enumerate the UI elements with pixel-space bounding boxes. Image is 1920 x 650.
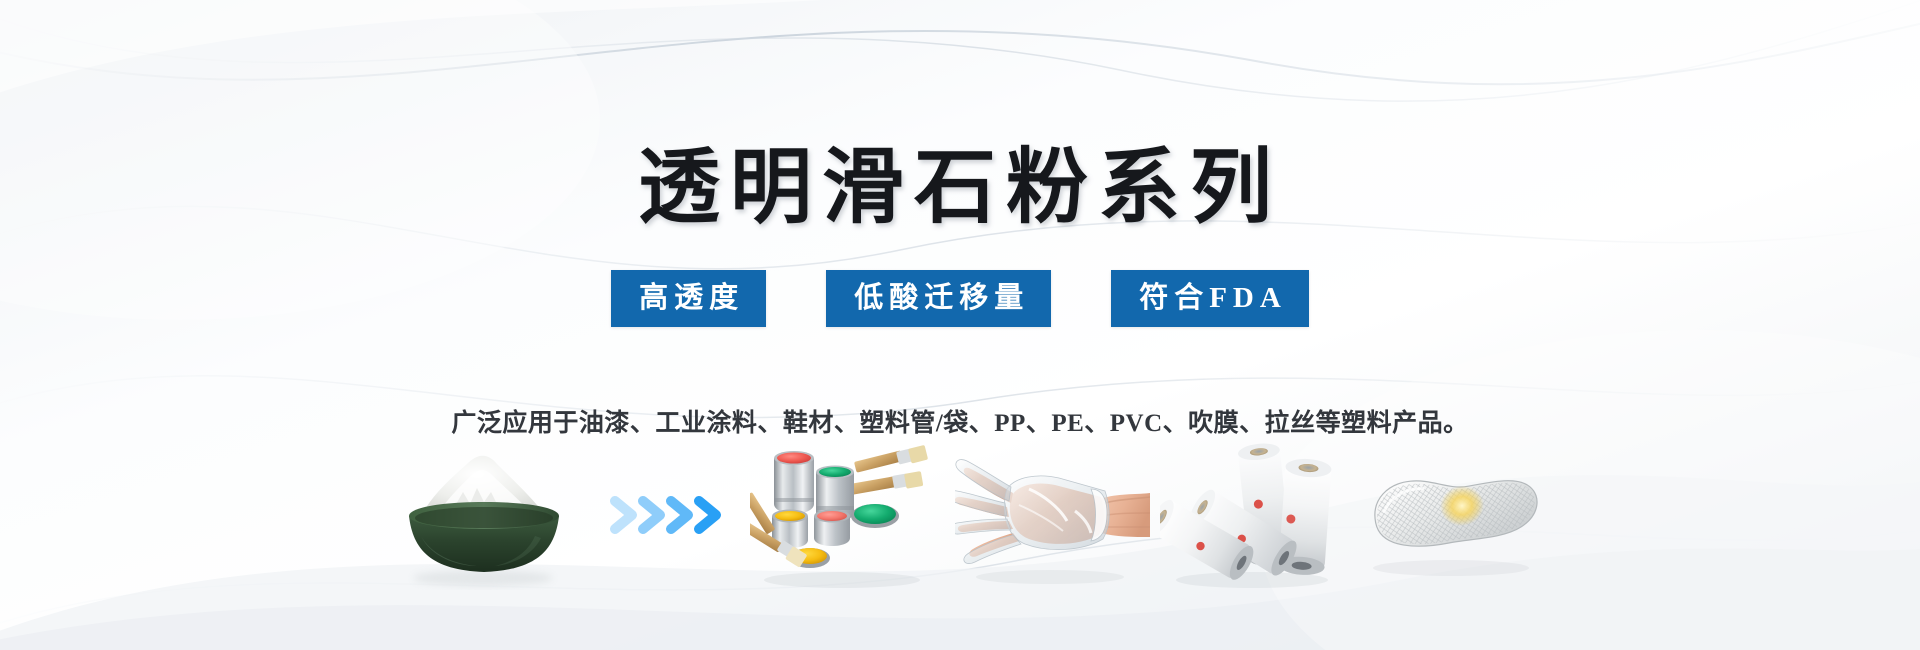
product-image-strip	[0, 430, 1920, 600]
status-badge: 符合FDA	[1111, 270, 1309, 327]
talc-powder-bowl-image	[365, 440, 595, 590]
paint-cans-icon	[750, 440, 945, 590]
banner-content: 透明滑石粉系列 高透度 低酸迁移量 符合FDA 广泛应用于油漆、工业涂料、鞋材、…	[0, 0, 1920, 650]
feature-badge-row: 高透度 低酸迁移量 符合FDA	[0, 270, 1920, 327]
gloved-hand-icon	[955, 445, 1150, 585]
status-badge: 高透度	[611, 270, 766, 327]
process-arrows-image	[595, 440, 745, 590]
chevron-right-icon	[605, 485, 735, 545]
paint-cans-image	[745, 440, 950, 590]
talc-powder-bowl-icon	[365, 440, 595, 590]
product-banner: 透明滑石粉系列 高透度 低酸迁移量 符合FDA 广泛应用于油漆、工业涂料、鞋材、…	[0, 0, 1920, 650]
plastic-film-rolls-image	[1155, 440, 1350, 590]
status-badge: 低酸迁移量	[826, 270, 1051, 327]
shoe-sole-icon	[1355, 450, 1550, 580]
shoe-sole-image	[1350, 440, 1555, 590]
page-title: 透明滑石粉系列	[0, 147, 1920, 229]
film-rolls-icon	[1160, 440, 1345, 590]
plastic-glove-hand-image	[950, 440, 1155, 590]
